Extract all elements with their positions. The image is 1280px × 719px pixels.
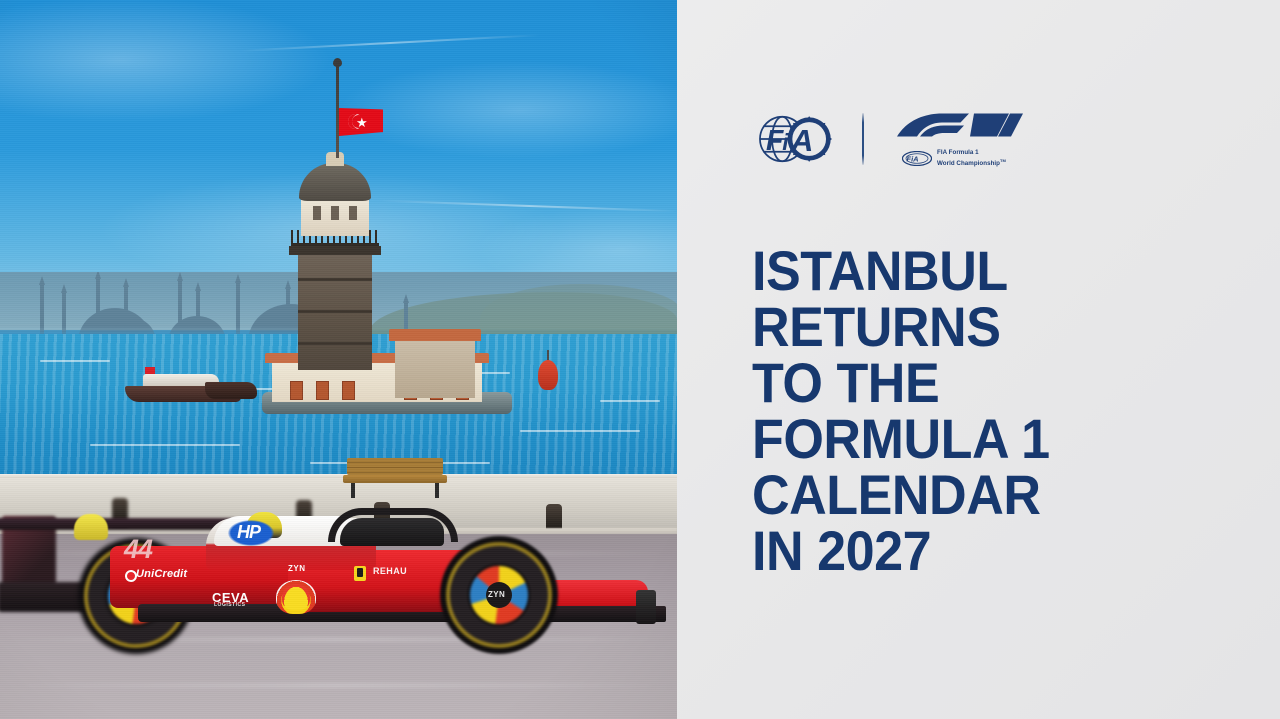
front-wing-sponsor: ZYN <box>488 590 505 599</box>
svg-text:i: i <box>782 129 789 155</box>
hero-photo: ★ <box>0 0 677 719</box>
headline-line-6: IN 2027 <box>752 523 1152 579</box>
f1-subtitle-text: FIA Formula 1World ChampionshipTM <box>937 149 1006 167</box>
f1-sublabel: FiA FIA Formula 1World ChampionshipTM <box>894 149 1024 167</box>
promenade-bench <box>341 458 449 498</box>
tower-balcony <box>289 246 381 255</box>
small-boat <box>205 382 257 399</box>
headline-line-1: ISTANBUL <box>752 243 1152 299</box>
svg-text:A: A <box>790 123 813 158</box>
rehau-logo: REHAU <box>373 566 407 576</box>
tower-annex <box>395 340 475 398</box>
f1-sub-fia-icon: FiA <box>902 151 932 166</box>
f1-lockup: FiA FIA Formula 1World ChampionshipTM <box>894 110 1024 167</box>
headline-line-5: CALENDAR <box>752 467 1152 523</box>
cockpit <box>340 518 444 546</box>
page-title: ISTANBUL RETURNS TO THE FORMULA 1 CALEND… <box>752 243 1182 579</box>
zyn-logo: ZYN <box>288 564 306 573</box>
f1-subtitle-line1: FIA Formula 1 <box>937 149 979 156</box>
logo-divider <box>862 113 864 165</box>
shell-logo-inner <box>282 584 310 610</box>
logo-lockup: F i A <box>752 108 1024 170</box>
ceva-sublabel: LOGISTICS <box>214 602 245 608</box>
flag-star-icon: ★ <box>356 116 368 129</box>
fia-logo-icon: F i A <box>752 108 834 170</box>
hp-wordmark: HP <box>237 522 260 543</box>
tower-shaft <box>298 252 372 370</box>
ferrari-shield-icon <box>354 566 366 581</box>
promo-graphic: ★ <box>0 0 1280 719</box>
f1-logo-icon <box>894 110 1024 144</box>
f1-trademark: TM <box>1000 158 1006 163</box>
car-race-number: 44 <box>124 534 152 565</box>
headline-line-2: RETURNS <box>752 299 1152 355</box>
svg-text:FiA: FiA <box>907 155 919 164</box>
content-panel: F i A <box>677 0 1280 719</box>
headline-line-4: FORMULA 1 <box>752 411 1152 467</box>
ferrari-f1-car: 44 HP UniCredit CEVA LOGISTICS ZYN REHAU… <box>0 494 668 659</box>
unicredit-logo: UniCredit <box>136 568 187 580</box>
flagpole <box>336 62 339 158</box>
flagpole-finial <box>333 58 342 67</box>
f1-subtitle-line2: World Championship <box>937 160 1000 167</box>
headline-line-3: TO THE <box>752 355 1152 411</box>
svg-text:F: F <box>766 124 784 156</box>
channel-buoy <box>535 350 561 396</box>
tower-cap <box>326 152 344 166</box>
tower-lantern <box>301 196 369 236</box>
driver-helmet <box>74 514 108 540</box>
